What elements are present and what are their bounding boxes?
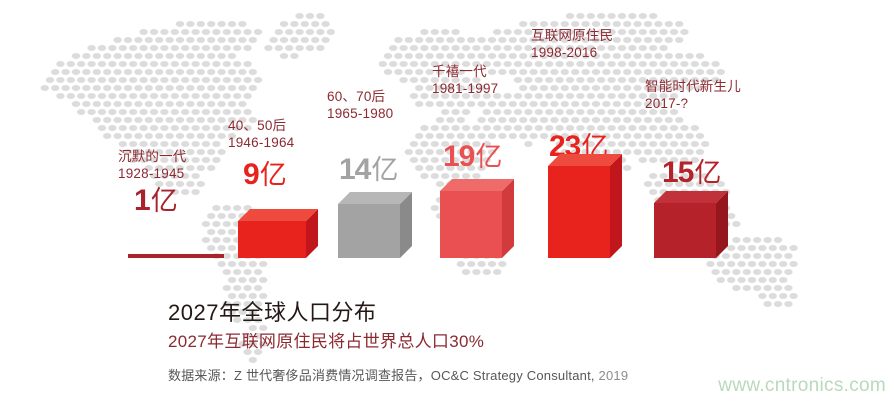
bar-chart-plot-area: 沉默的一代1928-19451亿40、50后1946-19649亿60、70后1… xyxy=(0,0,894,290)
bar-front-face xyxy=(238,221,306,258)
bar-value-unit: 亿 xyxy=(371,155,398,185)
bar-4 xyxy=(440,179,514,258)
bar-value-label-2: 9亿 xyxy=(243,160,287,190)
bar-value-label-1: 1亿 xyxy=(134,186,178,216)
bar-caption-2: 40、50后1946-1964 xyxy=(228,117,294,152)
bar-top-face xyxy=(338,192,412,204)
bar-5 xyxy=(548,154,622,258)
bar-caption-name: 40、50后 xyxy=(228,117,294,134)
bar-top-face xyxy=(548,154,622,166)
bar-value-unit: 亿 xyxy=(151,186,178,216)
bar-front-face xyxy=(654,203,716,258)
bar-value-unit: 亿 xyxy=(260,160,287,190)
bar-value-number: 14 xyxy=(339,153,370,186)
bar-front-face xyxy=(440,191,502,258)
bar-caption-4: 千禧一代1981-1997 xyxy=(432,63,498,98)
bar-side-face xyxy=(502,179,514,258)
bar-6 xyxy=(654,191,728,258)
bar-value-number: 15 xyxy=(662,156,693,189)
bar-value-number: 19 xyxy=(443,140,474,173)
bar-caption-years: 2017-? xyxy=(645,95,741,112)
bar-value-number: 9 xyxy=(243,158,259,191)
bar-caption-name: 互联网原住民 xyxy=(531,27,613,44)
source-prefix: 数据来源：Z 世代奢侈品消费情况调查报告，OC&C Strategy Consu… xyxy=(168,368,599,383)
bar-caption-years: 1928-1945 xyxy=(118,165,187,182)
source-year: 2019 xyxy=(599,368,629,383)
bar-value-label-6: 15亿 xyxy=(662,158,721,188)
bar-2 xyxy=(238,209,318,258)
bar-top-face xyxy=(440,179,514,191)
bar-value-label-3: 14亿 xyxy=(339,155,398,185)
bar-1 xyxy=(128,254,224,258)
site-watermark: www.cntronics.com xyxy=(718,375,886,397)
bar-caption-name: 60、70后 xyxy=(327,88,393,105)
bar-side-face xyxy=(610,154,622,258)
bar-caption-5: 互联网原住民1998-2016 xyxy=(531,27,613,62)
bar-caption-years: 1981-1997 xyxy=(432,80,498,97)
bar-caption-years: 1946-1964 xyxy=(228,134,294,151)
infographic-canvas: 沉默的一代1928-19451亿40、50后1946-19649亿60、70后1… xyxy=(0,0,894,405)
bar-caption-3: 60、70后1965-1980 xyxy=(327,88,393,123)
bar-value-label-4: 19亿 xyxy=(443,142,502,172)
bar-value-number: 1 xyxy=(134,184,150,217)
bar-top-face xyxy=(238,209,318,221)
bar-caption-name: 沉默的一代 xyxy=(118,148,187,165)
chart-subtitle: 2027年互联网原住民将占世界总人口30% xyxy=(168,331,868,352)
bar-top-face xyxy=(654,191,728,203)
bar-front-face xyxy=(338,204,400,258)
bar-front-face xyxy=(548,166,610,258)
bar-caption-name: 千禧一代 xyxy=(432,63,498,80)
bar-caption-6: 智能时代新生儿2017-? xyxy=(645,78,741,113)
bar-value-unit: 亿 xyxy=(475,142,502,172)
footer-text-block: 2027年全球人口分布 2027年互联网原住民将占世界总人口30% 数据来源：Z… xyxy=(168,300,868,384)
bar-caption-years: 1965-1980 xyxy=(327,105,393,122)
bar-3 xyxy=(338,192,412,258)
page-title: 2027年全球人口分布 xyxy=(168,300,868,326)
bar-caption-name: 智能时代新生儿 xyxy=(645,78,741,95)
bar-value-unit: 亿 xyxy=(694,158,721,188)
bar-caption-years: 1998-2016 xyxy=(531,44,613,61)
bar-caption-1: 沉默的一代1928-1945 xyxy=(118,148,187,183)
